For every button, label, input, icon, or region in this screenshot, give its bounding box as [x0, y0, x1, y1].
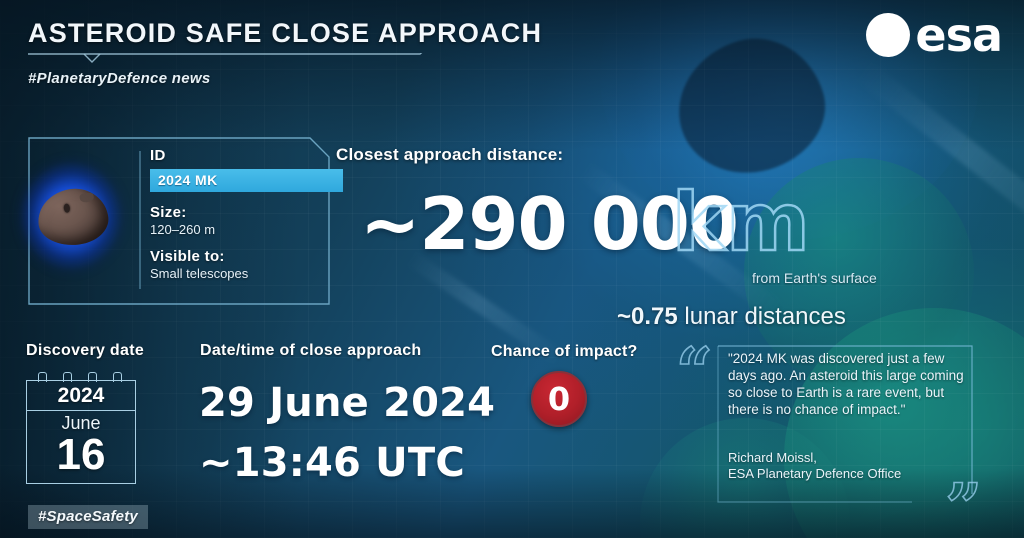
quote-box: “ ” "2024 MK was discovered just a few d…: [672, 344, 990, 504]
space-safety-tag: #SpaceSafety: [28, 505, 148, 529]
asteroid-crater-icon: [63, 203, 70, 213]
closest-approach-label: Closest approach distance:: [336, 145, 563, 165]
lunar-distance-value: ~0.75: [617, 303, 678, 330]
chance-of-impact-badge: 0: [531, 371, 587, 427]
quote-open-mark: “: [676, 340, 713, 404]
panel-fields: ID 2024 MK Size: 120–260 m Visible to: S…: [150, 147, 330, 281]
chance-of-impact-label: Chance of impact?: [491, 343, 638, 361]
asteroid-notch: [79, 192, 94, 203]
background-asteroid-silhouette: [663, 22, 840, 189]
esa-crescent-icon: [863, 10, 913, 60]
close-approach-date: 29 June 2024: [199, 383, 495, 423]
quote-text: "2024 MK was discovered just a few days …: [728, 350, 966, 418]
closest-approach-unit: km: [672, 183, 811, 263]
quote-close-mark: ”: [945, 476, 982, 538]
esa-wordmark: esa: [915, 10, 1002, 60]
infographic-canvas: ASTEROID SAFE CLOSE APPROACH #PlanetaryD…: [0, 0, 1024, 538]
chance-of-impact-value: 0: [548, 383, 570, 415]
calendar-year: 2024: [27, 381, 135, 411]
visible-to-label: Visible to:: [150, 248, 330, 265]
asteroid-info-panel: ID 2024 MK Size: 120–260 m Visible to: S…: [28, 137, 330, 305]
size-value: 120–260 m: [150, 222, 330, 237]
page-subtitle: #PlanetaryDefence news: [28, 70, 211, 87]
size-label: Size:: [150, 204, 330, 221]
closest-approach-reference: from Earth's surface: [752, 270, 877, 286]
lunar-distance-line: ~0.75 lunar distances: [617, 303, 846, 331]
id-label: ID: [150, 147, 330, 164]
lunar-distance-unit: lunar distances: [684, 303, 845, 330]
title-underline: [28, 53, 432, 63]
esa-logo: esa: [863, 10, 1002, 60]
discovery-date-label: Discovery date: [26, 342, 144, 360]
calendar-icon: 2024 June 16: [26, 372, 136, 484]
close-approach-time: ~13:46 UTC: [199, 443, 465, 483]
quote-attribution: Richard Moissl,ESA Planetary Defence Off…: [728, 450, 978, 482]
id-value-chip: 2024 MK: [150, 169, 343, 192]
visible-to-value: Small telescopes: [150, 266, 330, 281]
close-approach-datetime-label: Date/time of close approach: [200, 342, 422, 360]
asteroid-illustration: [6, 141, 136, 291]
calendar-day: 16: [27, 432, 135, 478]
page-title: ASTEROID SAFE CLOSE APPROACH: [28, 18, 542, 49]
calendar-body: 2024 June 16: [26, 380, 136, 484]
background-light-streak-1: [854, 60, 1024, 264]
